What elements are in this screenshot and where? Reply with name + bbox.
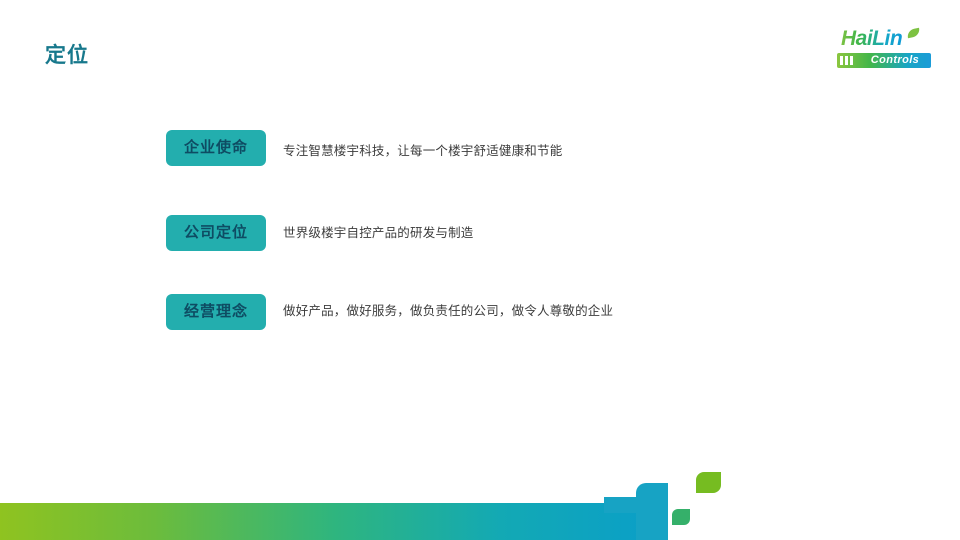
three-bars-icon	[840, 56, 856, 65]
company-logo: HaiLin Controls	[833, 28, 933, 72]
row-tag-mission: 企业使命	[166, 130, 266, 166]
row-tag-philosophy: 经营理念	[166, 294, 266, 330]
decorative-green-leaf-icon	[696, 472, 721, 493]
decorative-blue-leaf-icon	[636, 483, 668, 513]
bottom-gradient-bar	[0, 503, 641, 540]
row-tag-positioning: 公司定位	[166, 215, 266, 251]
row-description-positioning: 世界级楼宇自控产品的研发与制造	[283, 223, 474, 243]
row-description-philosophy: 做好产品，做好服务，做负责任的公司，做令人尊敬的企业	[283, 301, 613, 321]
logo-tagline: Controls	[859, 53, 931, 68]
row-description-mission: 专注智慧楼宇科技，让每一个楼宇舒适健康和节能	[283, 141, 562, 161]
slide-canvas: 定位 HaiLin Controls 企业使命 专注智慧楼宇科技，让每一个楼宇舒…	[0, 0, 960, 540]
logo-wordmark: HaiLin	[841, 28, 902, 50]
leaf-icon	[906, 28, 920, 39]
decorative-green-small-leaf-icon	[672, 509, 690, 525]
logo-tagline-bar: Controls	[837, 53, 931, 68]
page-title: 定位	[45, 41, 89, 71]
